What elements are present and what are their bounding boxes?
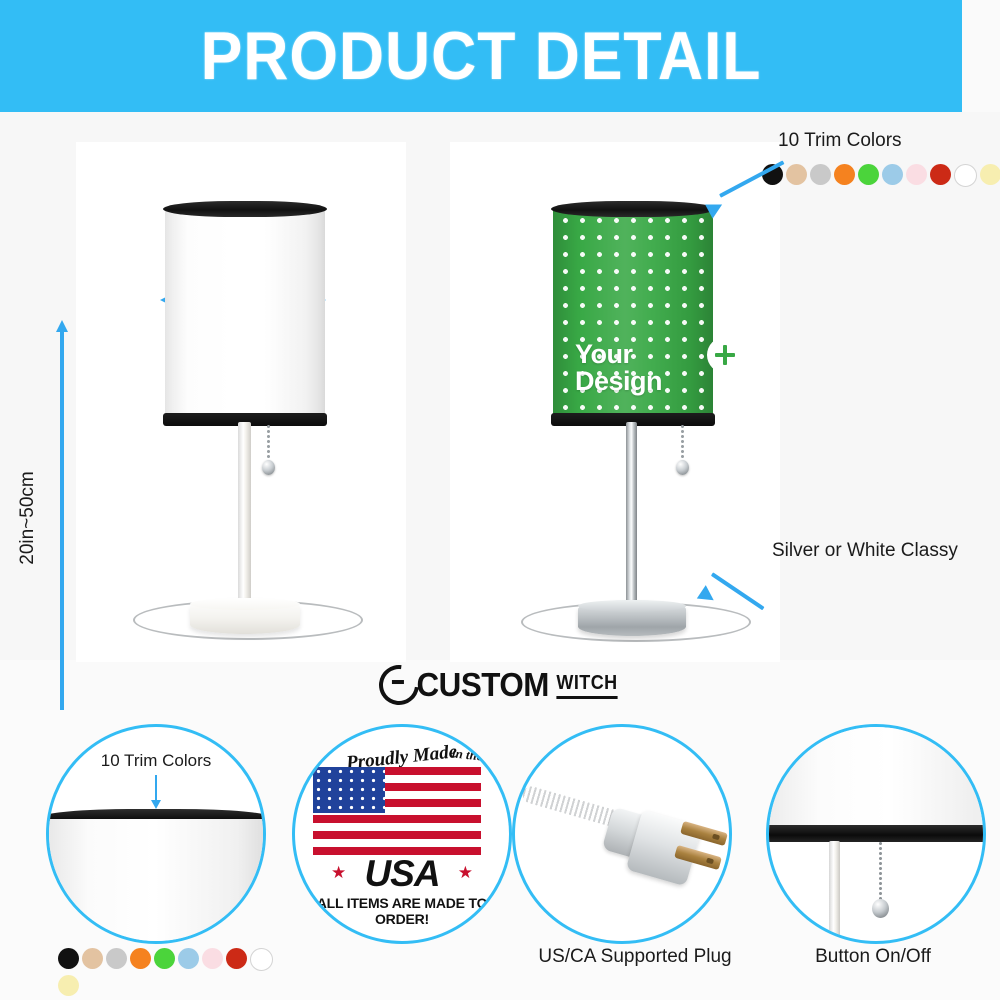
lampshade-custom-design: Your Design [553,207,713,422]
swatch-light-blue[interactable] [882,164,903,185]
lamp-pole-closeup [829,841,840,944]
lamp-base-silver [578,600,686,636]
swatch-red[interactable] [930,164,951,185]
base-finish-label: Silver or White Classy [772,540,958,562]
trim-color-swatches-bottom [58,948,288,1000]
pull-chain-white [267,424,270,464]
trim-colors-down-arrow [151,775,161,809]
feature-circle-made-in-usa: Proudly Made in the ★ USA ★ ALL ITEMS AR… [292,724,512,944]
usa-flag-map-icon [313,767,481,857]
swatch-bottom-black[interactable] [58,948,79,969]
trim-colors-label-top: 10 Trim Colors [778,130,902,152]
swatch-bottom-light-blue[interactable] [178,948,199,969]
swatch-yellow[interactable] [980,164,1000,185]
trim-colors-pointer-arrow [700,170,800,220]
product-detail-page: PRODUCT DETAIL 7in~18cm 20in~50cm [0,0,1000,1000]
feature-circle-trim-colors: 10 Trim Colors [46,724,266,944]
swatch-bottom-gray[interactable] [106,948,127,969]
base-finish-pointer-arrow [690,552,780,608]
main-product-stage: 7in~18cm 20in~50cm [0,112,1000,660]
usa-in-the-text: in the [452,745,484,764]
shade-bottom-trim-closeup [766,825,986,842]
plug-caption: US/CA Supported Plug [512,946,758,968]
pull-chain-closeup [879,841,882,903]
lamp-pole-white [238,422,251,612]
usa-subline: ALL ITEMS ARE MADE TO ORDER! [295,895,509,927]
swatch-pink[interactable] [906,164,927,185]
usa-word: USA [295,853,509,895]
shade-top-trim [163,201,327,217]
height-dimension-label: 20in~50cm [17,438,39,598]
usa-star-right-icon: ★ [458,863,473,883]
brand-name-main: CUSTOM [416,666,548,704]
lampshade-blank [165,207,325,422]
design-line-1: Your [575,339,633,369]
pull-chain-bead-white [262,460,275,475]
feature-highlights-row: 10 Trim Colors Proudly Made in the ★ US [0,710,1000,1000]
swatch-bottom-red[interactable] [226,948,247,969]
shade-body-closeup [46,819,266,944]
swatch-white[interactable] [954,164,977,187]
lamp-base-white [190,598,300,634]
swatch-bottom-yellow[interactable] [58,975,79,996]
page-title: PRODUCT DETAIL [38,0,923,112]
design-line-2: Design [575,366,662,396]
add-design-plus-icon[interactable] [707,337,743,373]
brand-name-sub: WITCH [557,672,618,699]
shade-bottom-closeup [766,727,986,831]
brand-logo: CUSTOM WITCH [0,664,1000,706]
lamp-pole-silver [626,422,637,614]
feature-trim-colors-caption: 10 Trim Colors [49,751,263,771]
button-caption: Button On/Off [766,946,980,968]
swatch-bottom-pink[interactable] [202,948,223,969]
feature-circle-plug [512,724,732,944]
swatch-green[interactable] [858,164,879,185]
shade-top-trim-green [551,201,715,217]
swatch-orange[interactable] [834,164,855,185]
swatch-gray[interactable] [810,164,831,185]
pull-chain-bead-silver [676,460,689,475]
your-design-placeholder: Your Design [575,341,705,396]
swatch-bottom-tan[interactable] [82,948,103,969]
swatch-bottom-green[interactable] [154,948,175,969]
pull-chain-bead-closeup[interactable] [872,899,889,918]
pull-chain-silver [681,424,684,464]
swatch-bottom-orange[interactable] [130,948,151,969]
header-banner: PRODUCT DETAIL [0,0,962,112]
swatch-bottom-white[interactable] [250,948,273,971]
feature-circle-button [766,724,986,944]
